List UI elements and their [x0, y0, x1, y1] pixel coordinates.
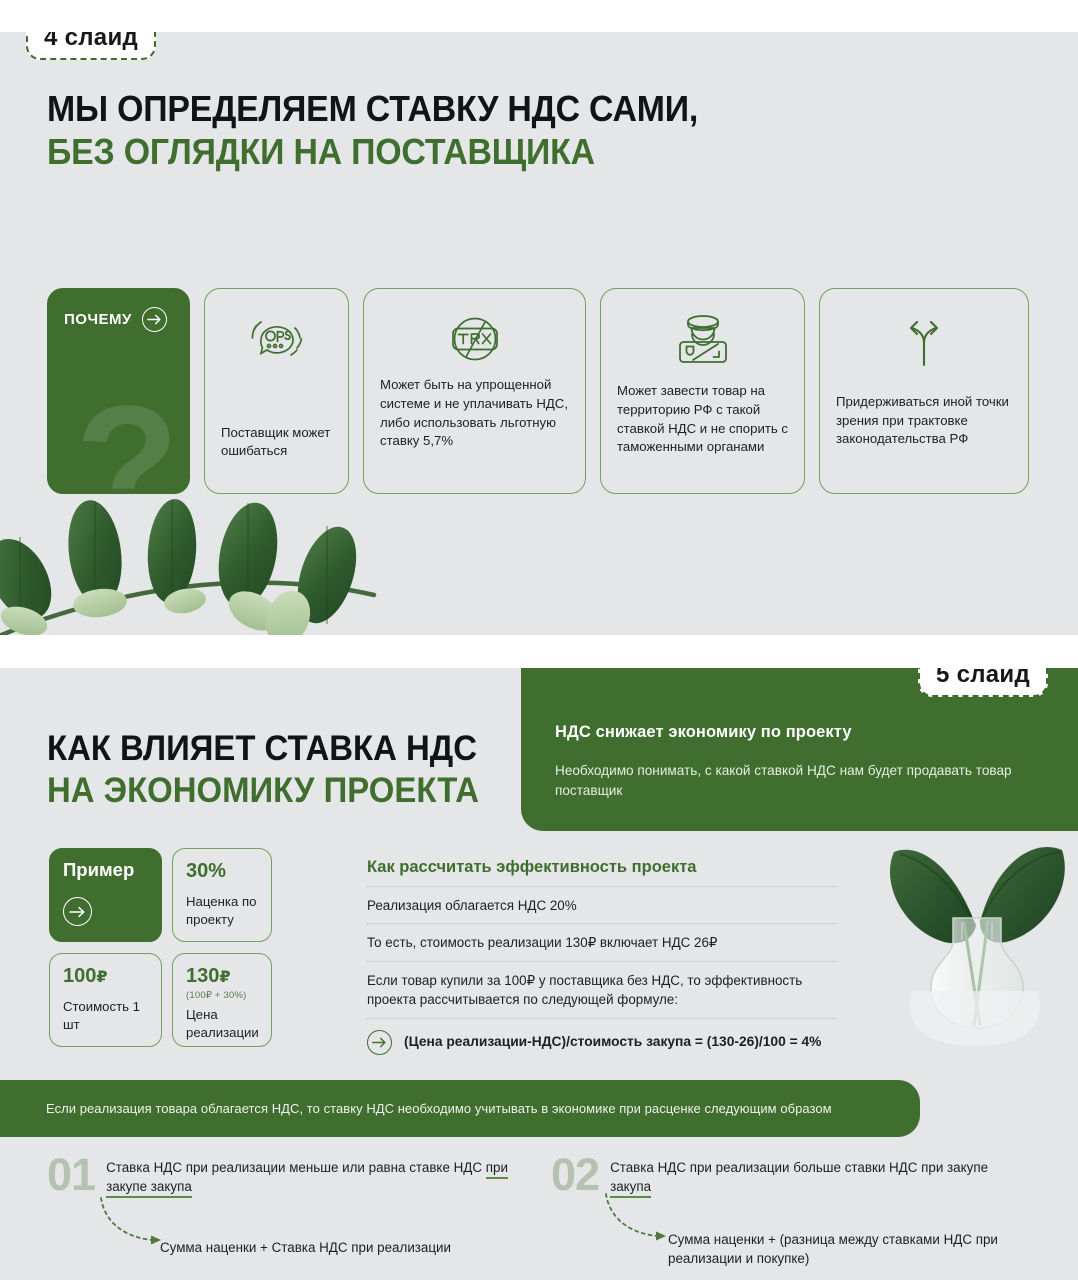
customs-officer-icon	[617, 303, 788, 377]
slide-5-headline: КАК ВЛИЯЕТ СТАВКА НДС НА ЭКОНОМИКУ ПРОЕК…	[47, 730, 507, 809]
example-stat-cards: Пример 30% Наценка по проекту 100₽ Стоим…	[49, 848, 272, 1047]
unit-cost-caption: Стоимость 1 шт	[63, 998, 148, 1034]
calc-row: Если товар купили за 100₽ у поставщика б…	[367, 961, 837, 1018]
sale-price-number: 130	[186, 965, 219, 987]
reason-card[interactable]: Поставщик может ошибаться	[204, 288, 349, 494]
rule-conclusion: Сумма наценки + Ставка НДС при реализаци…	[160, 1238, 500, 1257]
tax-crossed-out-icon	[380, 303, 569, 374]
ruble-sign: ₽	[219, 969, 230, 986]
green-note-text: Если реализация товара облагается НДС, т…	[46, 1101, 832, 1116]
rule-number: 01	[47, 1156, 95, 1196]
calc-formula-row: (Цена реализации-НДС)/стоимость закупа =…	[367, 1018, 837, 1063]
efficiency-calculation-block: Как рассчитать эффективность проекта Реа…	[367, 858, 837, 1063]
why-card-label: ПОЧЕМУ	[64, 311, 132, 328]
reason-card[interactable]: Может завести товар на территорию РФ с т…	[600, 288, 805, 494]
example-card-label: Пример	[63, 860, 148, 880]
question-mark-watermark: ?	[75, 381, 179, 494]
reason-card[interactable]: Может быть на упрощенной системе и не уп…	[363, 288, 586, 494]
sale-price-note: (100₽ + 30%)	[186, 990, 258, 1001]
reason-card[interactable]: Придерживаться иной точки зрения при тра…	[819, 288, 1029, 494]
unit-cost-card[interactable]: 100₽ Стоимость 1 шт	[49, 953, 162, 1047]
reason-card-text: Может завести товар на территорию РФ с т…	[617, 382, 788, 457]
rule-text-plain: Ставка НДС при реализации больше ставки …	[610, 1160, 988, 1175]
headline-line-1: МЫ ОПРЕДЕЛЯЕМ СТАВКУ НДС САМИ,	[47, 90, 698, 128]
rule-text: Ставка НДС при реализации меньше или рав…	[106, 1156, 517, 1196]
slide-number-badge-4: 4 слайд	[26, 32, 156, 60]
unit-cost-number: 100	[63, 965, 96, 987]
calc-row: Реализация облагается НДС 20%	[367, 886, 837, 923]
sale-price-value: 130₽	[186, 965, 258, 987]
green-panel-title: НДС снижает экономику по проекту	[555, 723, 1032, 742]
why-card[interactable]: ПОЧЕМУ ?	[47, 288, 190, 494]
headline-line-1: КАК ВЛИЯЕТ СТАВКА НДС	[47, 730, 479, 767]
reason-cards-row: ПОЧЕМУ ?	[47, 288, 1029, 494]
why-card-header: ПОЧЕМУ	[64, 307, 173, 332]
arrow-right-circle-icon	[63, 897, 92, 926]
rule-item: 01 Ставка НДС при реализации меньше или …	[47, 1156, 517, 1196]
forked-arrows-icon	[836, 303, 1012, 377]
reason-card-text: Может быть на упрощенной системе и не уп…	[380, 376, 569, 451]
calc-row: То есть, стоимость реализации 130₽ включ…	[367, 923, 837, 960]
markup-value: 30%	[186, 860, 258, 882]
sale-price-card[interactable]: 130₽ (100₽ + 30%) Цена реализации	[172, 953, 272, 1047]
reason-card-text: Придерживаться иной точки зрения при тра…	[836, 393, 1012, 449]
sale-price-caption: Цена реализации	[186, 1006, 258, 1042]
markup-caption: Наценка по проекту	[186, 893, 258, 929]
arrow-right-circle-icon	[142, 307, 167, 332]
slide-5: НДС снижает экономику по проекту Необход…	[0, 668, 1078, 1280]
rule-conclusion: Сумма наценки + (разница между ставками …	[668, 1230, 1008, 1268]
green-panel-subtitle: Необходимо понимать, с какой ставкой НДС…	[555, 761, 1030, 802]
calc-formula-text: (Цена реализации-НДС)/стоимость закупа =…	[404, 1032, 821, 1052]
reason-card-text: Поставщик может ошибаться	[221, 424, 332, 461]
rule-text-plain: Ставка НДС при реализации меньше или рав…	[106, 1160, 482, 1175]
calc-title: Как рассчитать эффективность проекта	[367, 858, 837, 877]
ruble-sign: ₽	[96, 969, 107, 986]
slide-4: 4 слайд МЫ ОПРЕДЕЛЯЕМ СТАВКУ НДС САМИ, Б…	[0, 32, 1078, 635]
headline-line-2: НА ЭКОНОМИКУ ПРОЕКТА	[47, 772, 479, 809]
unit-cost-value: 100₽	[63, 965, 148, 987]
slide-4-headline: МЫ ОПРЕДЕЛЯЕМ СТАВКУ НДС САМИ, БЕЗ ОГЛЯД…	[47, 90, 740, 171]
leaf-in-glass-vase-photo	[884, 826, 1070, 1072]
oops-speech-bubble-icon	[221, 303, 332, 377]
headline-line-2: БЕЗ ОГЛЯДКИ НА ПОСТАВЩИКА	[47, 133, 698, 171]
slide-number-badge-5: 5 слайд	[918, 668, 1048, 697]
green-note-strip: Если реализация товара облагается НДС, т…	[0, 1080, 920, 1137]
arrow-right-circle-icon	[367, 1030, 392, 1055]
rule-number: 02	[551, 1156, 599, 1196]
example-card[interactable]: Пример	[49, 848, 162, 942]
markup-percent-card[interactable]: 30% Наценка по проекту	[172, 848, 272, 942]
